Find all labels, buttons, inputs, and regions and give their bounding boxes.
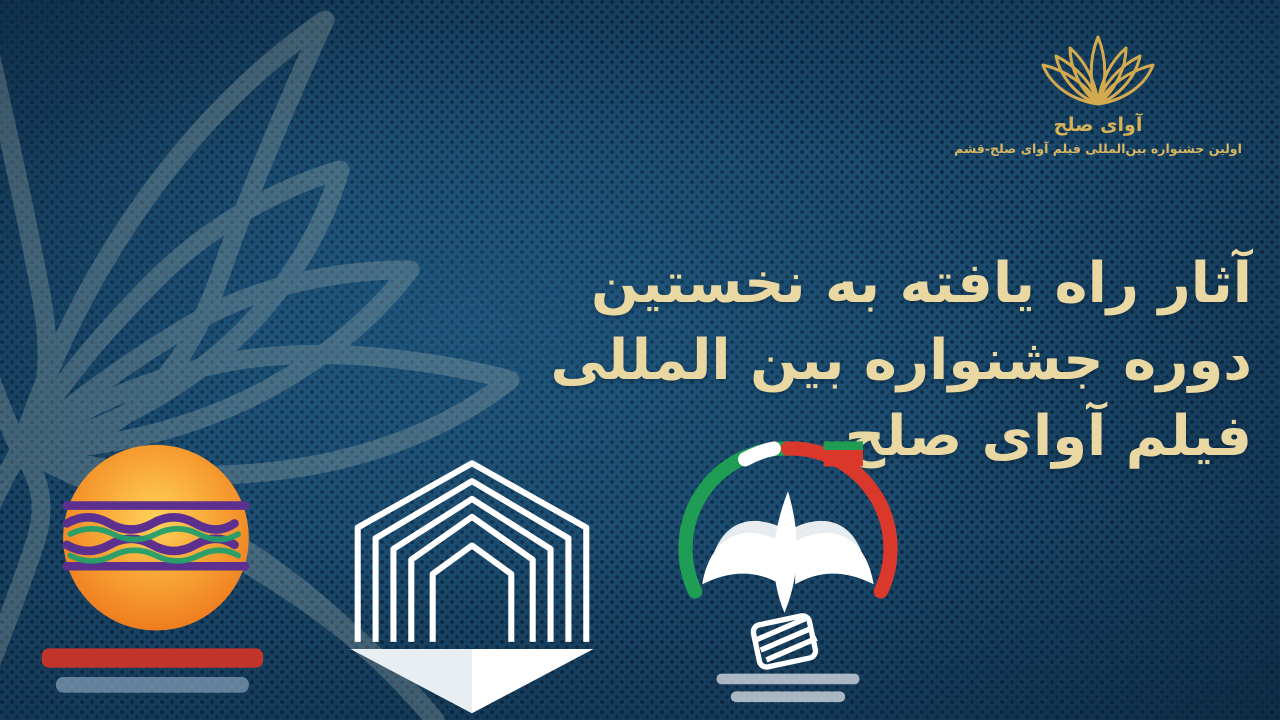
- sponsor-caption: [42, 649, 263, 693]
- sponsor-logo-row: [6, 420, 938, 720]
- sponsor-caption: [717, 674, 860, 703]
- sponsor-dove-organization: [638, 420, 938, 720]
- headline-line-2: دوره جشنواره بین المللی: [562, 323, 1252, 400]
- arch-tunnel-logo-icon: [322, 449, 622, 720]
- sponsor-qeshm-free-zone: [6, 427, 306, 720]
- brand-subtitle: اولین جشنواره بین‌المللی فیلم آوای صلح-ق…: [938, 141, 1258, 156]
- brand-name: آوای صلح: [938, 114, 1258, 136]
- headline-line-1: آثار راه یافته به نخستین: [562, 246, 1252, 323]
- poster-canvas: آوای صلح اولین جشنواره بین‌المللی فیلم آ…: [0, 0, 1280, 720]
- lotus-logo-icon: [1039, 26, 1157, 112]
- dove-circle-logo-icon: [638, 420, 938, 720]
- qeshm-sun-logo-icon: [6, 427, 306, 720]
- sponsor-architecture-institute: [322, 449, 622, 720]
- festival-brand-lockup: آوای صلح اولین جشنواره بین‌المللی فیلم آ…: [938, 26, 1258, 156]
